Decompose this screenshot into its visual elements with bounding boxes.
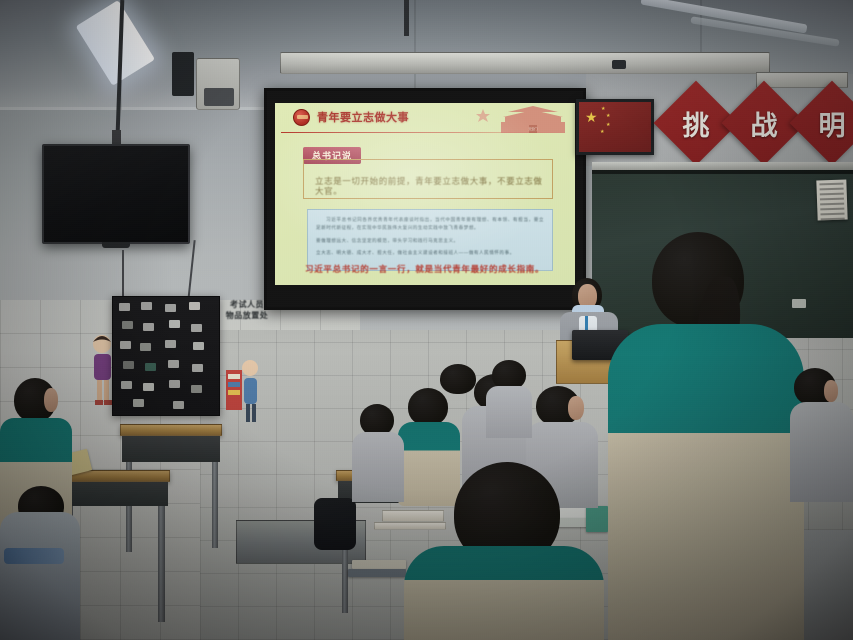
desk-left-back-front — [122, 436, 220, 462]
national-flag: ★ ★ ★ ★ ★ — [576, 99, 654, 155]
wall-monitor — [42, 144, 190, 244]
desk-leg — [212, 462, 218, 548]
flag-star-small: ★ — [606, 123, 610, 128]
speaker-box — [172, 52, 194, 96]
slide-body-paragraph: 立大志、明大德、成大才、担大任，做社会主义建设者和接班人——做有人民情怀的事。 — [316, 249, 544, 257]
book — [352, 560, 406, 569]
desk-left-back — [120, 424, 222, 436]
ceiling-fixture-stub — [404, 0, 409, 36]
projector-lens-block — [204, 88, 234, 106]
flag-star-large: ★ — [585, 110, 598, 124]
classroom-photo: 青年要立志做大事 天安门 总书记说 立志是一切开始的前提，青年要立志做大事，不要… — [0, 0, 853, 640]
student — [486, 360, 532, 430]
tv-power-cable — [122, 250, 124, 296]
flag-star-small: ★ — [600, 130, 604, 135]
slide-body-paragraph: 要做理想远大、信念坚定的模范，带头学习和践行马克思主义。 — [316, 237, 544, 245]
flag-star-small: ★ — [606, 114, 610, 119]
wall-notice-text: 考试人员 物品放置处 — [222, 300, 272, 334]
blackboard-notice-paper — [816, 179, 847, 220]
student-foreground-center — [404, 462, 604, 640]
backpack — [314, 498, 356, 550]
student-right — [790, 368, 853, 508]
notice-line-2: 物品放置处 — [222, 311, 272, 322]
student-foreground-right — [608, 232, 808, 640]
notice-line-1: 考试人员 — [222, 300, 272, 311]
book — [348, 569, 406, 577]
slide-footer-text: 习近平总书记的一言一行，就是当代青年最好的成长指南。 — [305, 263, 555, 275]
banner-char: 战 — [734, 93, 794, 153]
phone-pocket-organizer — [112, 296, 220, 416]
screen-roller-case — [280, 52, 770, 74]
student — [0, 452, 82, 640]
student — [352, 404, 404, 496]
flag-star-small: ★ — [601, 107, 605, 112]
banner-char: 挑 — [666, 93, 726, 153]
projection-screen: 青年要立志做大事 天安门 总书记说 立志是一切开始的前提，青年要立志做大事，不要… — [264, 88, 586, 310]
tiananmen-graphic: 天安门 — [475, 106, 571, 133]
desk-leg — [158, 506, 165, 622]
student — [440, 364, 478, 404]
slide-quote-text: 立志是一切开始的前提，青年要立志做大事，不要立志做大官。 — [315, 176, 545, 196]
league-emblem-icon — [293, 109, 310, 126]
svg-text:天安门: 天安门 — [528, 126, 537, 131]
wall-cartoon-right — [222, 350, 262, 430]
banner-char: 明 — [802, 93, 853, 153]
ceiling-cable-clip — [612, 60, 626, 69]
slide-body-box: 习近平总书记同各界优秀青年代表座谈时指出，当代中国青年要有理想、有本领、有担当，… — [307, 209, 553, 271]
presentation-slide: 青年要立志做大事 天安门 总书记说 立志是一切开始的前提，青年要立志做大事，不要… — [275, 103, 575, 285]
slide-title: 青年要立志做大事 — [317, 109, 409, 125]
slide-body-paragraph: 习近平总书记同各界优秀青年代表座谈时指出，当代中国青年要有理想、有本领、有担当，… — [316, 216, 544, 233]
